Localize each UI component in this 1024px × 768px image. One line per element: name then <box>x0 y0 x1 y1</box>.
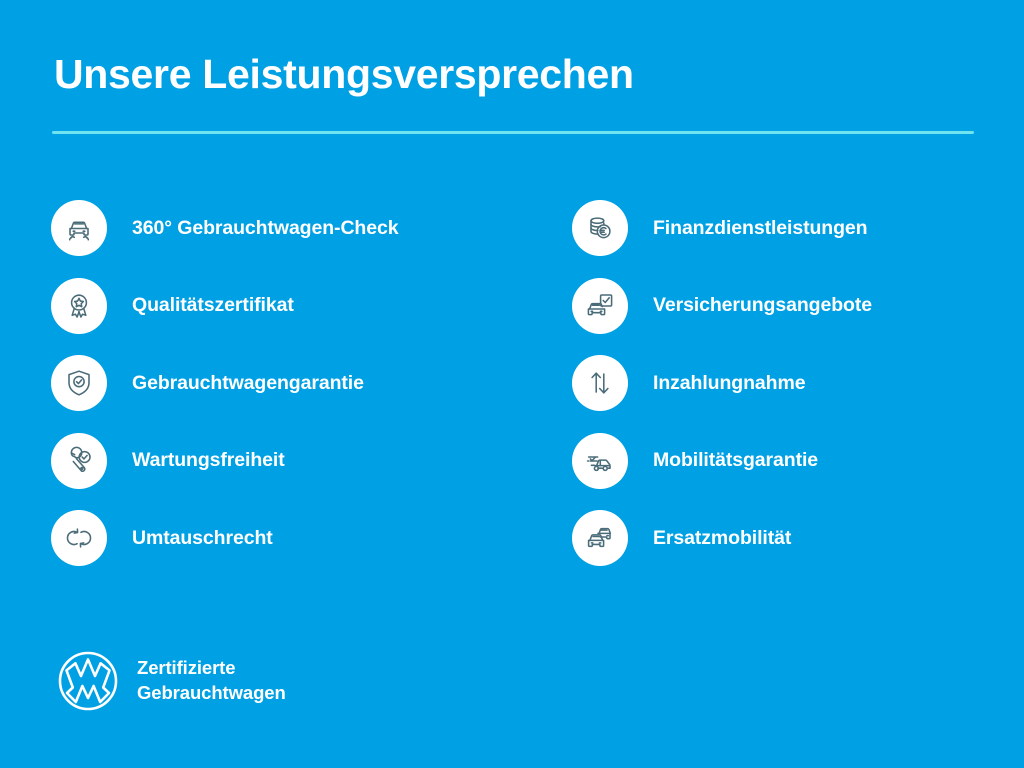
two-cars-icon <box>572 510 628 566</box>
exchange-arrows-icon <box>51 510 107 566</box>
benefit-item[interactable]: Ersatzmobilität <box>572 510 1012 566</box>
benefits-column-right: Finanzdienstleistungen Versicherungsange… <box>572 200 1012 588</box>
benefit-item[interactable]: Inzahlungnahme <box>572 355 1012 411</box>
brand-text: Zertifizierte Gebrauchtwagen <box>137 656 286 706</box>
benefit-item[interactable]: Gebrauchtwagengarantie <box>51 355 521 411</box>
brand-text-line2: Gebrauchtwagen <box>137 682 286 703</box>
shield-check-icon <box>51 355 107 411</box>
page-title: Unsere Leistungsversprechen <box>54 52 634 98</box>
benefit-label: Finanzdienstleistungen <box>653 217 867 240</box>
benefit-label: Ersatzmobilität <box>653 527 791 550</box>
benefit-label: Mobilitätsgarantie <box>653 449 818 472</box>
volkswagen-logo-icon <box>57 650 119 712</box>
benefit-label: Umtauschrecht <box>132 527 273 550</box>
title-divider <box>52 131 974 134</box>
brand-text-line1: Zertifizierte <box>137 657 235 678</box>
coins-euro-icon <box>572 200 628 256</box>
benefit-item[interactable]: Finanzdienstleistungen <box>572 200 1012 256</box>
benefit-label: Gebrauchtwagengarantie <box>132 372 364 395</box>
benefit-item[interactable]: 360° Gebrauchtwagen-Check <box>51 200 521 256</box>
benefit-label: Qualitätszertifikat <box>132 294 294 317</box>
benefit-label: 360° Gebrauchtwagen-Check <box>132 217 398 240</box>
benefit-label: Versicherungsangebote <box>653 294 872 317</box>
slide-root: Unsere Leistungsversprechen 360° Ge <box>0 0 1024 768</box>
benefit-item[interactable]: Qualitätszertifikat <box>51 278 521 334</box>
brand-lockup: Zertifizierte Gebrauchtwagen <box>57 650 286 712</box>
benefit-item[interactable]: Umtauschrecht <box>51 510 521 566</box>
benefit-item[interactable]: Wartungsfreiheit <box>51 433 521 489</box>
award-medal-icon <box>51 278 107 334</box>
car-speed-lines-icon <box>572 433 628 489</box>
benefits-column-left: 360° Gebrauchtwagen-Check Qualitätszerti… <box>51 200 521 588</box>
benefit-label: Inzahlungnahme <box>653 372 805 395</box>
benefit-item[interactable]: Mobilitätsgarantie <box>572 433 1012 489</box>
wrench-check-icon <box>51 433 107 489</box>
up-down-arrows-icon <box>572 355 628 411</box>
benefit-item[interactable]: Versicherungsangebote <box>572 278 1012 334</box>
benefit-label: Wartungsfreiheit <box>132 449 285 472</box>
car-360-check-icon <box>51 200 107 256</box>
car-document-icon <box>572 278 628 334</box>
